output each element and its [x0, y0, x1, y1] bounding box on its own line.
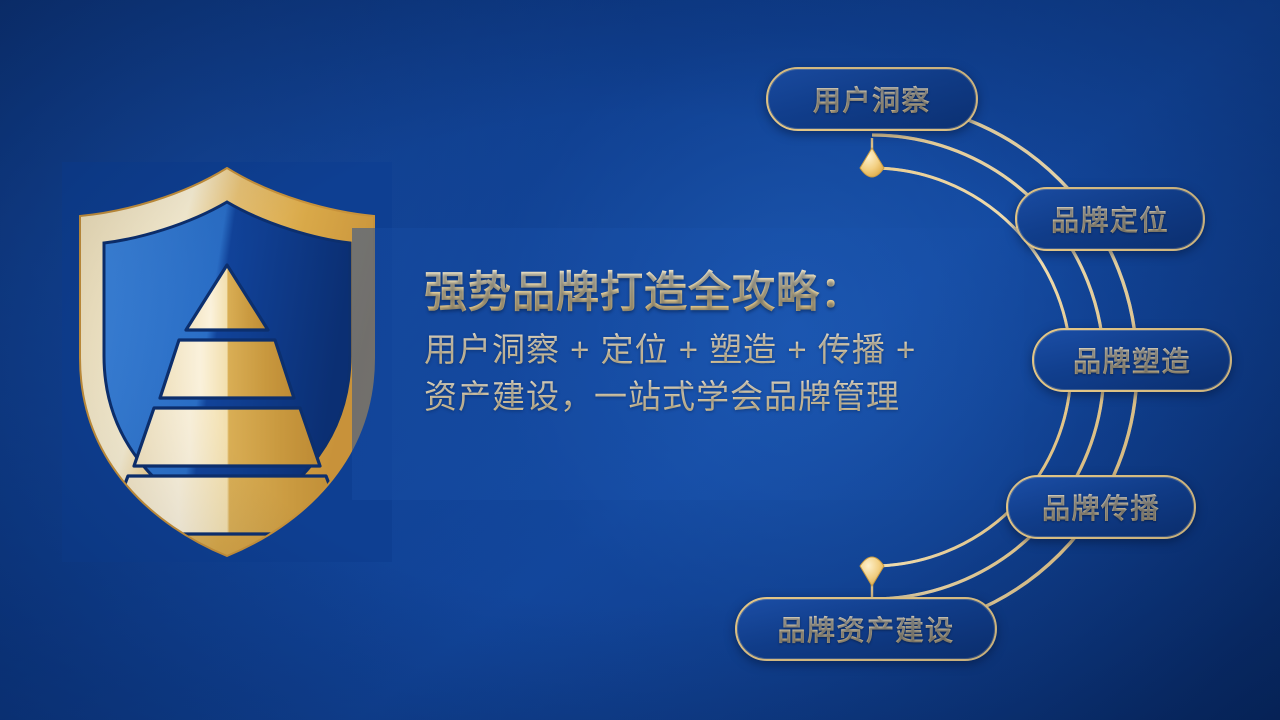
headline-subline-1: 用户洞察 + 定位 + 塑造 + 传播 +: [424, 327, 1044, 374]
cycle-node-label: 品牌定位: [1051, 199, 1169, 239]
cycle-node-label: 品牌塑造: [1073, 340, 1191, 380]
shield-pyramid-logo: [62, 162, 392, 562]
cycle-node-brand-shaping[interactable]: 品牌塑造: [1032, 328, 1232, 392]
pyramid-tier-3: [134, 408, 320, 466]
cycle-node-brand-spread[interactable]: 品牌传播: [1006, 475, 1196, 539]
headline-subline-2: 资产建设，一站式学会品牌管理: [424, 374, 1044, 421]
gold-diamond-marker-top: [860, 148, 884, 177]
page-title: 强势品牌打造全攻略：: [424, 268, 1044, 319]
pyramid-tier-2: [160, 340, 294, 398]
cycle-node-label: 品牌资产建设: [777, 609, 954, 649]
cycle-node-brand-asset[interactable]: 品牌资产建设: [735, 597, 997, 661]
headline-block: 强势品牌打造全攻略： 用户洞察 + 定位 + 塑造 + 传播 + 资产建设，一站…: [424, 268, 1044, 420]
cycle-node-label: 用户洞察: [813, 79, 931, 119]
cycle-node-label: 品牌传播: [1042, 487, 1160, 527]
gold-diamond-marker-bottom: [860, 557, 884, 586]
cycle-node-user-insight[interactable]: 用户洞察: [766, 67, 978, 131]
shield-icon: [62, 162, 392, 562]
cycle-node-brand-position[interactable]: 品牌定位: [1015, 187, 1205, 251]
poster-canvas: 用户洞察 品牌定位 品牌塑造 品牌传播 品牌资产建设 强势品牌打造全攻略： 用户…: [0, 0, 1280, 720]
